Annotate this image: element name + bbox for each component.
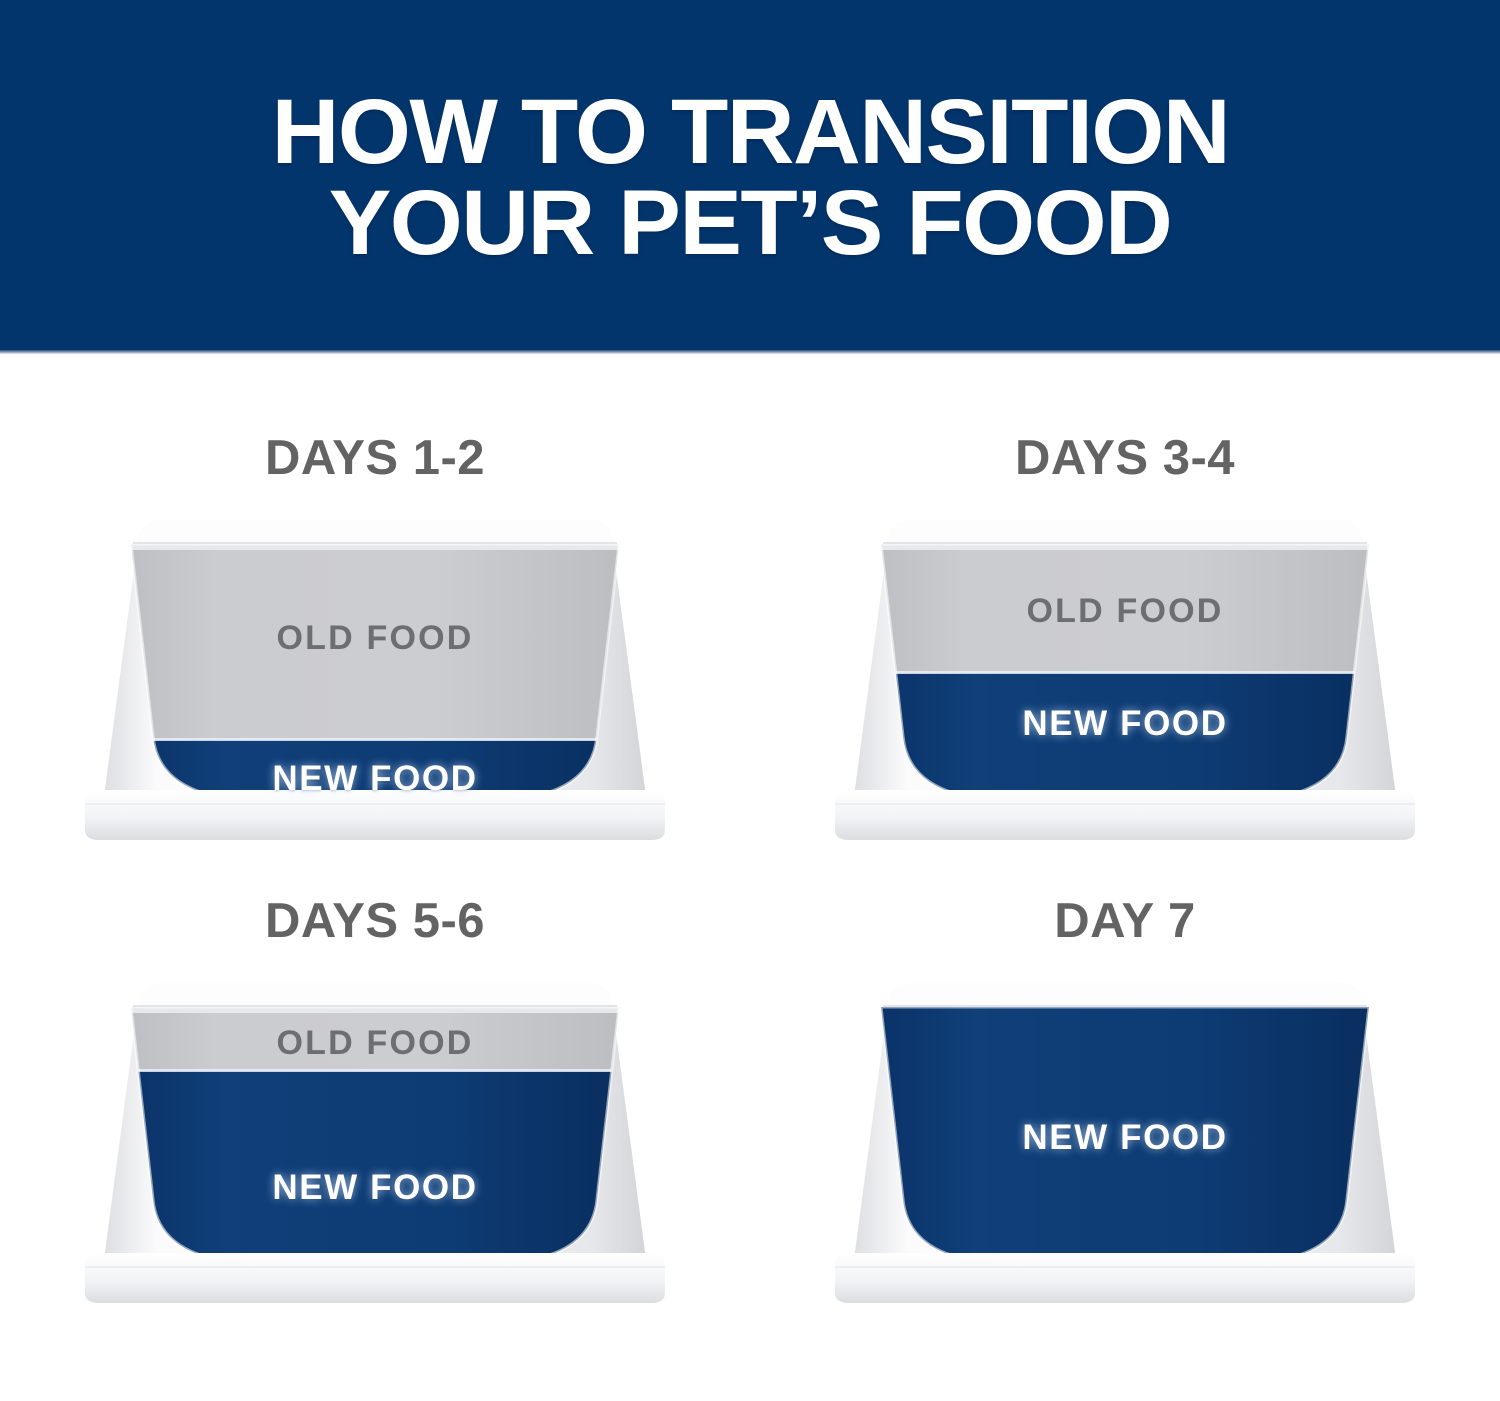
page-header: HOW TO TRANSITION YOUR PET’S FOOD: [0, 0, 1500, 350]
bowl-illustration: [45, 967, 705, 1312]
bowl-illustration: [795, 504, 1455, 849]
pet-bowl-days-5-6: OLD FOOD NEW FOOD: [45, 967, 705, 1312]
pet-bowl-days-1-2: OLD FOOD NEW FOOD: [45, 504, 705, 849]
step-day-label: DAY 7: [1054, 893, 1195, 949]
pet-bowl-day-7: NEW FOOD: [795, 967, 1455, 1312]
page-title-line-1: HOW TO TRANSITION: [271, 87, 1229, 178]
transition-step-days-5-6: DAYS 5-6: [0, 877, 750, 1401]
bowl-illustration: [795, 967, 1455, 1312]
transition-step-day-7: DAY 7: [750, 877, 1500, 1401]
transition-step-days-3-4: DAYS 3-4: [750, 354, 1500, 877]
pet-bowl-days-3-4: OLD FOOD NEW FOOD: [795, 504, 1455, 849]
bowl-illustration: [45, 504, 705, 849]
transition-step-days-1-2: DAYS 1-2: [0, 354, 750, 877]
page-title-line-2: YOUR PET’S FOOD: [329, 178, 1172, 269]
step-day-label: DAYS 5-6: [265, 893, 485, 949]
step-day-label: DAYS 3-4: [1015, 430, 1235, 486]
step-day-label: DAYS 1-2: [265, 430, 485, 486]
transition-steps-grid: DAYS 1-2: [0, 354, 1500, 1401]
